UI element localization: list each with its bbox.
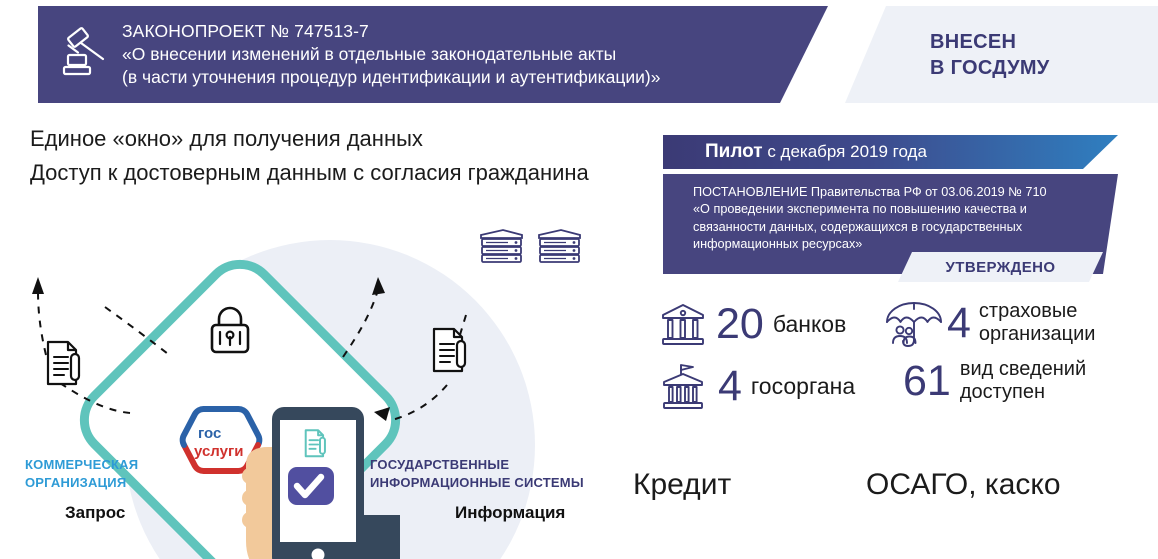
- arrow-head-request: [32, 277, 44, 294]
- pilot-title: Пилот с декабря 2019 года: [663, 141, 927, 163]
- stat-insurers-caption: страховые организации: [979, 300, 1096, 346]
- bill-line-1: ЗАКОНОПРОЕКТ № 747513-7: [122, 20, 661, 43]
- bill-line-2: «О внесении изменений в отдельные законо…: [122, 43, 661, 66]
- status-line-1: ВНЕСЕН: [845, 29, 1158, 55]
- document-pen-icon: [434, 329, 465, 371]
- stat-insurers: 4 страховые организации: [883, 298, 1095, 348]
- product-credit: Кредит: [633, 468, 731, 502]
- commercial-org-line-2: ОРГАНИЗАЦИЯ: [25, 474, 138, 492]
- svg-text:услуги: услуги: [194, 443, 243, 460]
- bank-icon: [660, 300, 706, 348]
- request-label: Запрос: [65, 503, 125, 523]
- government-icon: [660, 362, 706, 410]
- stat-data-types: 61 вид сведений доступен: [903, 358, 1086, 404]
- pilot-title-rest: с декабря 2019 года: [763, 142, 927, 161]
- pilot-title-bold: Пилот: [705, 141, 763, 162]
- gis-line-1: ГОСУДАРСТВЕННЫЕ: [370, 456, 584, 474]
- stat-data-types-number: 61: [903, 360, 951, 403]
- commercial-org-line-1: КОММЕРЧЕСКАЯ: [25, 456, 138, 474]
- digital-profile-diagram: гос услуги: [0, 215, 650, 559]
- gis-line-2: ИНФОРМАЦИОННЫЕ СИСТЕМЫ: [370, 474, 584, 492]
- bill-text: ЗАКОНОПРОЕКТ № 747513-7 «О внесении изме…: [120, 20, 661, 89]
- document-icon: [306, 430, 325, 456]
- pilot-banner: Пилот с декабря 2019 года: [663, 135, 1118, 169]
- stat-insurers-number: 4: [947, 302, 971, 345]
- decree-line-2: «О проведении эксперимента по повышению …: [693, 201, 1093, 218]
- information-label: Информация: [455, 503, 565, 523]
- smartphone-icon: [272, 407, 364, 559]
- product-osago: ОСАГО, каско: [866, 468, 1061, 502]
- lead-text: Единое «окно» для получения данных Досту…: [30, 122, 650, 190]
- stat-banks-caption: банков: [773, 311, 846, 337]
- status-line-2: В ГОСДУМУ: [845, 55, 1158, 81]
- statistics-block: 20 банков 4 г: [655, 296, 1158, 446]
- decree-line-4: информационных ресурсах»: [693, 236, 1093, 253]
- svg-text:гос: гос: [198, 425, 221, 442]
- approved-badge: УТВЕРЖДЕНО: [898, 252, 1103, 282]
- stat-gov-number: 4: [718, 365, 742, 408]
- bill-line-3: (в части уточнения процедур идентификаци…: [122, 66, 661, 89]
- stat-gov-bodies: 4 госоргана: [660, 362, 855, 410]
- lead-line-1: Единое «окно» для получения данных: [30, 122, 650, 156]
- bill-header-banner: ЗАКОНОПРОЕКТ № 747513-7 «О внесении изме…: [38, 6, 828, 103]
- stat-banks-number: 20: [716, 303, 764, 346]
- stat-insurers-caption-line-2: организации: [979, 323, 1096, 345]
- gavel-icon: [46, 27, 120, 83]
- stat-data-types-caption-line-2: доступен: [960, 381, 1045, 403]
- decree-text: ПОСТАНОВЛЕНИЕ Правительства РФ от 03.06.…: [663, 174, 1093, 254]
- infographic-root: ЗАКОНОПРОЕКТ № 747513-7 «О внесении изме…: [0, 0, 1158, 559]
- approved-label: УТВЕРЖДЕНО: [946, 259, 1056, 276]
- umbrella-icon: [883, 298, 945, 348]
- lead-line-2: Доступ к достоверным данным с согласия г…: [30, 156, 650, 190]
- stat-insurers-caption-line-1: страховые: [979, 300, 1077, 322]
- status-banner: ВНЕСЕН В ГОСДУМУ: [845, 6, 1158, 103]
- decree-line-1: ПОСТАНОВЛЕНИЕ Правительства РФ от 03.06.…: [693, 184, 1093, 201]
- stat-data-types-caption: вид сведений доступен: [960, 358, 1086, 404]
- server-rack-icon: [481, 230, 580, 262]
- document-pen-icon: [48, 342, 79, 384]
- decree-line-3: связанности данных, содержащихся в госуд…: [693, 219, 1093, 236]
- check-icon: [288, 467, 334, 505]
- gis-label: ГОСУДАРСТВЕННЫЕ ИНФОРМАЦИОННЫЕ СИСТЕМЫ: [370, 456, 584, 491]
- stat-banks: 20 банков: [660, 300, 846, 348]
- stat-data-types-caption-line-1: вид сведений: [960, 358, 1086, 380]
- commercial-org-label: КОММЕРЧЕСКАЯ ОРГАНИЗАЦИЯ: [25, 456, 138, 491]
- stat-gov-caption: госоргана: [751, 373, 855, 399]
